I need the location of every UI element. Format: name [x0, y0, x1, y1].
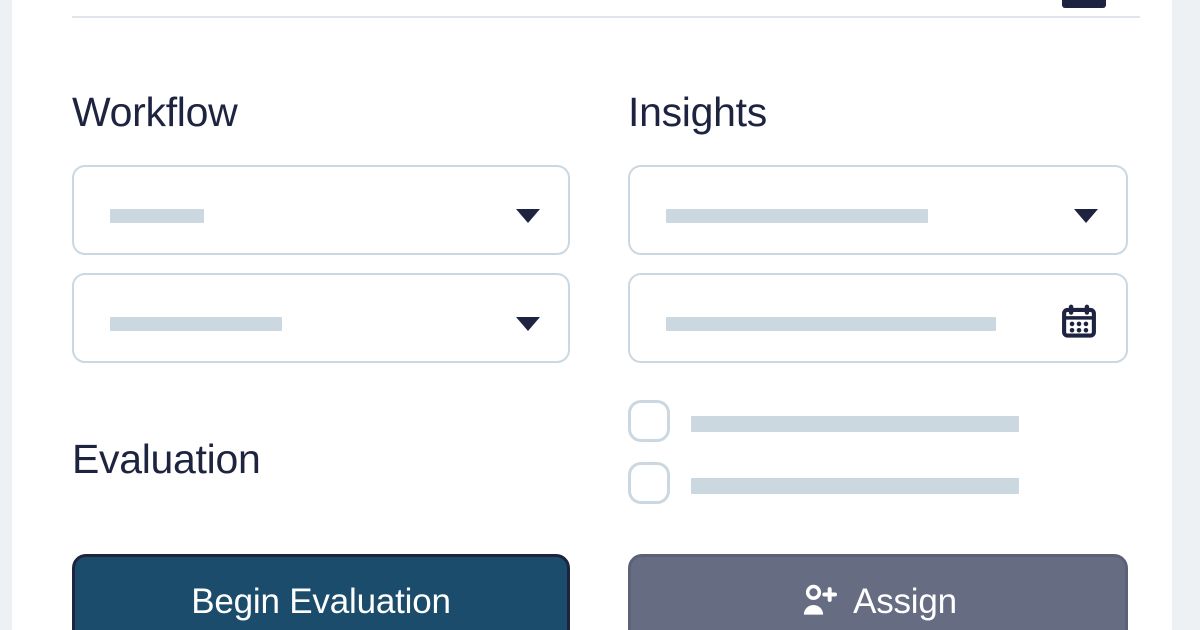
checkbox-unchecked-icon[interactable]: [628, 400, 670, 442]
skeleton-placeholder: [691, 478, 1019, 494]
chevron-down-icon[interactable]: [516, 317, 540, 331]
header-divider: [72, 16, 1140, 18]
skeleton-placeholder: [110, 317, 282, 331]
workflow-select-primary[interactable]: [72, 165, 570, 255]
workflow-heading: Workflow: [72, 88, 237, 136]
calendar-icon[interactable]: [1058, 303, 1100, 341]
begin-evaluation-label: Begin Evaluation: [191, 582, 451, 622]
insights-date-field[interactable]: [628, 273, 1128, 363]
evaluation-heading: Evaluation: [72, 435, 260, 483]
checkbox-unchecked-icon[interactable]: [628, 462, 670, 504]
workflow-column: Workflow Evaluation Begin Evaluation: [0, 60, 606, 630]
assign-label: Assign: [853, 582, 957, 622]
page-root: Workflow Evaluation Begin Evaluation Ins…: [0, 0, 1200, 630]
assign-button[interactable]: Assign: [628, 554, 1128, 630]
insights-select[interactable]: [628, 165, 1128, 255]
chevron-down-icon[interactable]: [1074, 209, 1098, 223]
workflow-select-secondary[interactable]: [72, 273, 570, 363]
skeleton-placeholder: [110, 209, 204, 223]
skeleton-placeholder: [666, 317, 996, 331]
two-column-layout: Workflow Evaluation Begin Evaluation Ins…: [0, 60, 1200, 630]
skeleton-placeholder: [691, 416, 1019, 432]
insights-heading: Insights: [628, 88, 767, 136]
begin-evaluation-button[interactable]: Begin Evaluation: [72, 554, 570, 630]
top-cutoff-chip: [1062, 0, 1106, 8]
chevron-down-icon[interactable]: [516, 209, 540, 223]
person-add-icon: [799, 582, 839, 622]
skeleton-placeholder: [666, 209, 928, 223]
